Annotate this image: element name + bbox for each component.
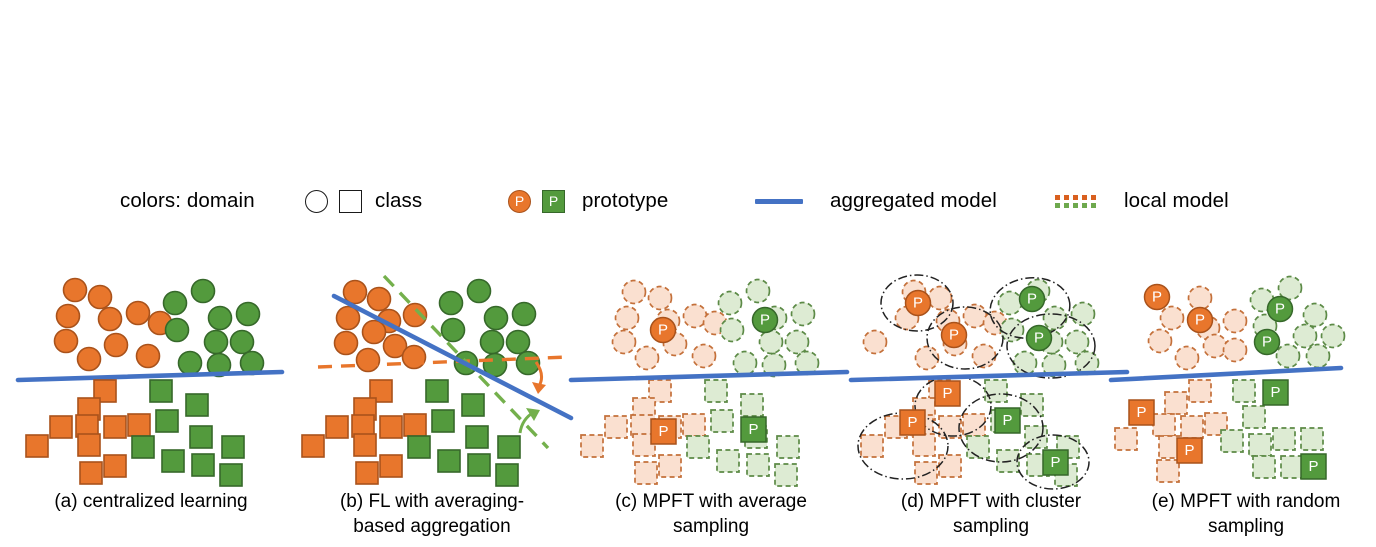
- panel-e-plot: P P P P P P P P: [1115, 258, 1376, 483]
- circle-icon: [305, 190, 328, 213]
- panel-a-circles-green: [164, 280, 264, 377]
- panel-d-prototype-orange-square-2: P: [900, 410, 925, 435]
- legend-label-aggregated-model: aggregated model: [830, 191, 997, 212]
- panel-e-boundary-aggregated: [1111, 368, 1341, 380]
- panel-e-squares-orange: [1115, 380, 1227, 482]
- panel-b-circles-green: [440, 280, 540, 377]
- legend-label-local-model: local model: [1124, 191, 1229, 212]
- legend-item-class: class: [305, 178, 422, 224]
- legend-label-prototype: prototype: [582, 191, 668, 212]
- panel-e-prototype-green-circle-2: P: [1255, 330, 1280, 355]
- panel-b-plot: [296, 258, 568, 483]
- panel-d-prototype-orange-circle-2: P: [942, 323, 967, 348]
- panel-d-prototype-orange-square-1: P: [935, 381, 960, 406]
- caption-panel-e: (e) MPFT with random sampling: [1115, 489, 1376, 539]
- figure-legend: colors: domain class P P prototype aggre…: [0, 178, 1376, 224]
- panel-fl-averaging: [296, 258, 568, 483]
- panel-d-prototype-green-square-2: P: [1043, 450, 1068, 475]
- panel-e-prototype-orange-square-2: P: [1177, 438, 1202, 463]
- legend-item-local-model: local model: [1055, 178, 1229, 224]
- legend-item-aggregated-model: aggregated model: [755, 178, 997, 224]
- panel-e-prototype-orange-square-1: P: [1129, 400, 1154, 425]
- panel-a-plot: [20, 258, 282, 483]
- panel-d-plot: P P P P P P P P: [855, 258, 1127, 483]
- panel-c-plot: P P P P: [575, 258, 847, 483]
- prototype-circle-icon: P: [508, 190, 531, 213]
- panel-c-prototype-orange-square: P: [651, 419, 676, 444]
- panel-e-prototype-orange-circle-2: P: [1188, 308, 1213, 333]
- panel-mpft-average-sampling: P P P P: [575, 258, 847, 483]
- panel-d-boundary-aggregated: [851, 372, 1127, 380]
- panel-mpft-cluster-sampling: P P P P P P P P: [855, 258, 1127, 483]
- legend-item-domain: colors: domain: [120, 178, 255, 224]
- panel-e-prototype-green-square-1: P: [1263, 380, 1288, 405]
- legend-label-domain: colors: domain: [120, 191, 255, 212]
- panel-d-prototype-green-circle-1: P: [1020, 287, 1045, 312]
- panel-a-circles-orange: [55, 279, 172, 371]
- prototype-square-icon: P: [542, 190, 565, 213]
- panel-d-prototype-orange-circle-1: P: [906, 291, 931, 316]
- panel-d-prototype-green-square-1: P: [995, 408, 1020, 433]
- panel-mpft-random-sampling: P P P P P P P P: [1115, 258, 1376, 483]
- panel-centralized-learning: [20, 258, 282, 483]
- caption-panel-a: (a) centralized learning: [20, 489, 282, 514]
- panel-e-prototype-green-square-2: P: [1301, 454, 1326, 479]
- legend-item-prototype: P P prototype: [508, 178, 668, 224]
- panel-a-squares-orange: [26, 380, 150, 484]
- square-icon: [339, 190, 362, 213]
- panel-b-circles-orange: [335, 281, 427, 372]
- caption-panel-d: (d) MPFT with cluster sampling: [855, 489, 1127, 539]
- panel-c-prototype-green-square: P: [741, 417, 766, 442]
- panel-e-prototype-green-circle-1: P: [1268, 297, 1293, 322]
- caption-panel-c: (c) MPFT with average sampling: [575, 489, 847, 539]
- panel-b-squares-orange: [302, 380, 426, 484]
- panel-e-prototype-orange-circle-1: P: [1145, 285, 1170, 310]
- panel-d-prototype-green-circle-2: P: [1027, 326, 1052, 351]
- dotted-line-icon: [1055, 190, 1099, 212]
- panel-c-prototype-orange-circle: P: [651, 318, 676, 343]
- panel-a-boundary-aggregated: [18, 372, 282, 380]
- legend-label-class: class: [375, 191, 422, 212]
- solid-line-icon: [755, 199, 803, 204]
- panel-c-boundary-aggregated: [571, 372, 847, 380]
- panel-c-squares-orange: [581, 380, 705, 484]
- caption-panel-b: (b) FL with averaging- based aggregation: [296, 489, 568, 539]
- panel-c-prototype-green-circle: P: [753, 308, 778, 333]
